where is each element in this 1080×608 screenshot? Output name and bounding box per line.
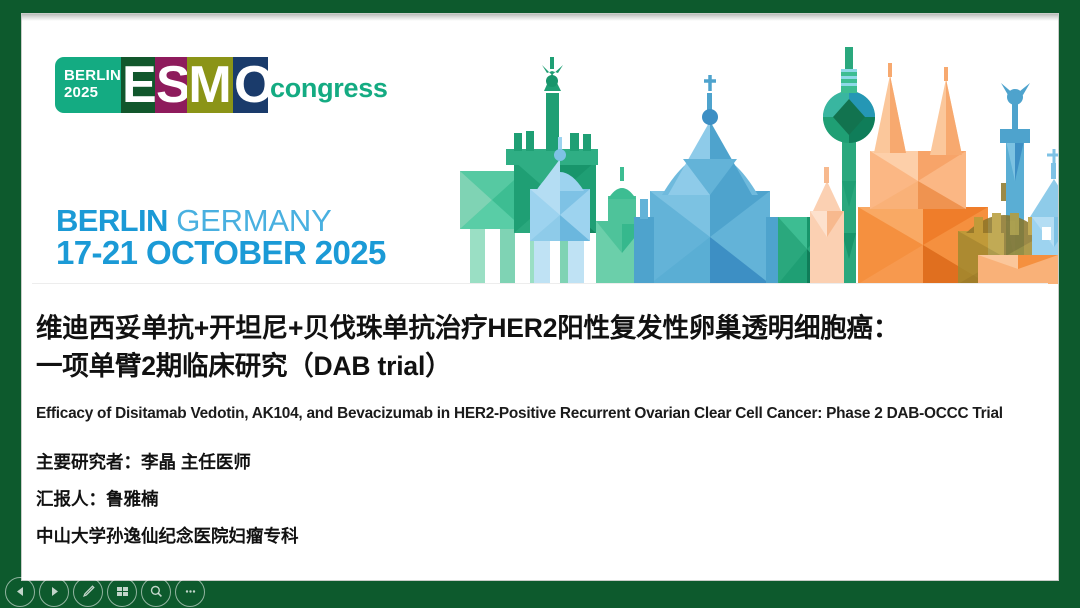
affiliation: 中山大学孙逸仙纪念医院妇瘤专科 [36, 525, 299, 548]
principal-investigator: 主要研究者：李晶 主任医师 [36, 451, 299, 474]
next-slide-button[interactable] [39, 577, 69, 607]
slide-outer-frame: BERLIN 2025 E S M O congress BERLIN GERM… [0, 0, 1080, 608]
esmo-logo: BERLIN 2025 E S M O [55, 57, 268, 113]
logo-letter-e: E [121, 57, 155, 113]
slide-canvas: BERLIN 2025 E S M O congress BERLIN GERM… [22, 14, 1058, 580]
logo-badge-year: 2025 [64, 85, 121, 102]
event-city: BERLIN [56, 203, 168, 238]
slide-top-shade [22, 14, 1058, 21]
slideshow-control-bar[interactable] [0, 575, 430, 608]
left-arrow-icon [14, 585, 27, 598]
presenter: 汇报人：鲁雅楠 [36, 488, 299, 511]
right-arrow-icon [48, 585, 61, 598]
pen-icon [81, 584, 96, 599]
event-dates: 17-21 OCTOBER 2025 [56, 236, 386, 270]
logo-congress-word: congress [270, 73, 388, 104]
esmo-logo-badge: BERLIN 2025 [55, 57, 121, 113]
logo-letter-s: S [155, 57, 187, 113]
pen-tool-button[interactable] [73, 577, 103, 607]
page-title: 维迪西妥单抗+开坦尼+贝伐珠单抗治疗HER2阳性复发性卵巢透明细胞癌： 一项单臂… [36, 310, 1046, 385]
all-slides-button[interactable] [107, 577, 137, 607]
magnifier-icon [149, 584, 164, 599]
header-divider [32, 283, 1048, 284]
zoom-in-button[interactable] [141, 577, 171, 607]
logo-badge-city: BERLIN [64, 68, 121, 85]
logo-letter-m: M [187, 57, 233, 113]
event-country: GERMANY [176, 203, 331, 238]
previous-slide-button[interactable] [5, 577, 35, 607]
title-zh-line-2: 一项单臂2期临床研究（DAB trial） [36, 348, 1046, 386]
title-zh-line-1: 维迪西妥单抗+开坦尼+贝伐珠单抗治疗HER2阳性复发性卵巢透明细胞癌： [36, 310, 1046, 348]
berlin-skyline-illustration [418, 21, 1058, 284]
logo-letter-o: O [233, 57, 268, 113]
esmo-logo-letters: E S M O [121, 57, 268, 113]
page-subtitle-english: Efficacy of Disitamab Vedotin, AK104, an… [36, 405, 1051, 423]
more-options-button[interactable] [175, 577, 205, 607]
header-banner: BERLIN 2025 E S M O congress BERLIN GERM… [22, 21, 1058, 284]
ellipsis-icon [183, 584, 198, 599]
author-block: 主要研究者：李晶 主任医师 汇报人：鲁雅楠 中山大学孙逸仙纪念医院妇瘤专科 [36, 451, 299, 547]
event-location: BERLIN GERMANY [56, 205, 332, 237]
grid-icon [115, 584, 130, 599]
